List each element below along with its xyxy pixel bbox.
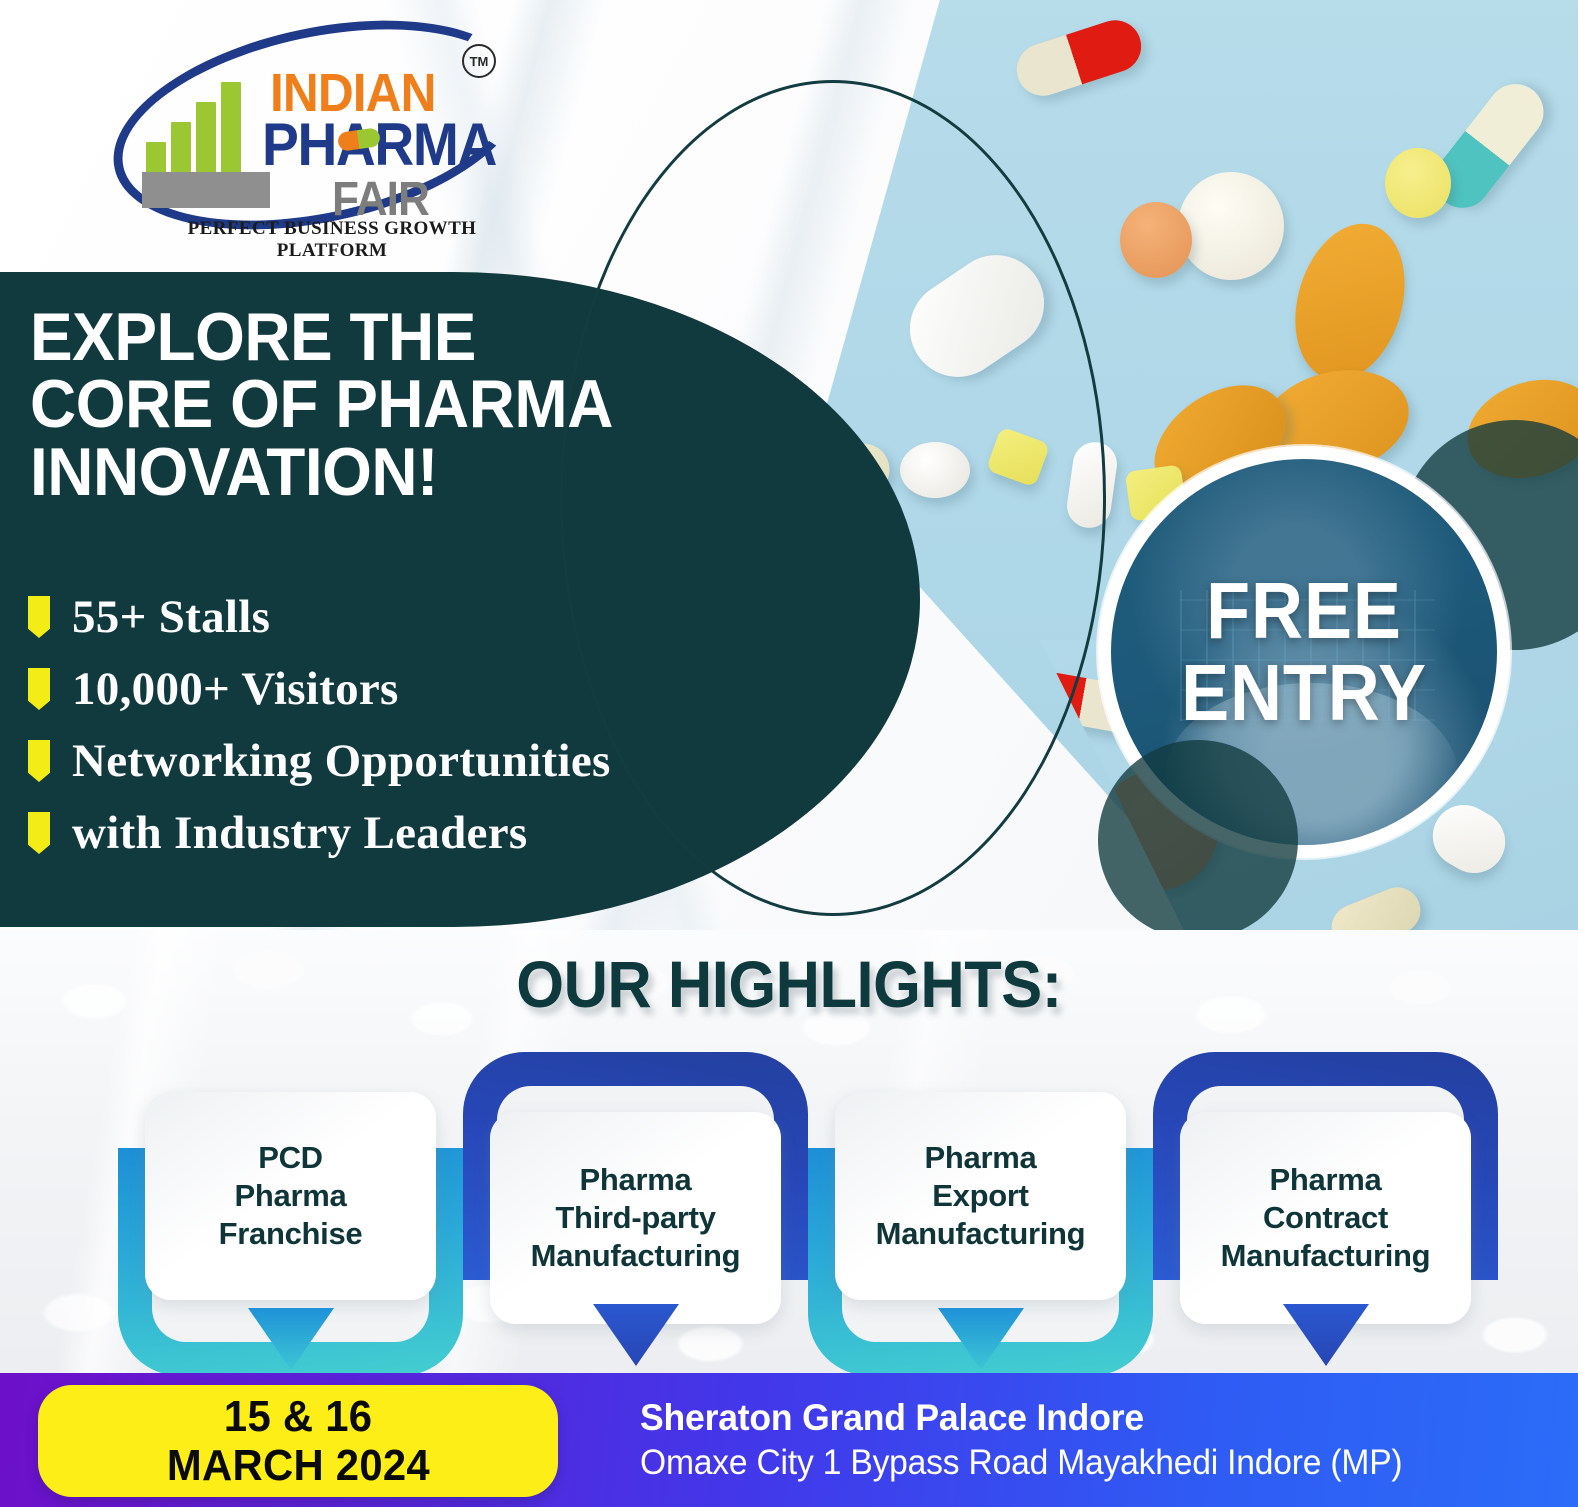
- logo-word-pharma: PHARMA: [262, 110, 496, 179]
- card-arrow-down-icon: [593, 1304, 679, 1366]
- card-arrow-down-icon: [1283, 1304, 1369, 1366]
- highlights-cards: PCDPharmaFranchise PharmaThird-partyManu…: [0, 1066, 1578, 1376]
- card-label: PCDPharmaFranchise: [215, 1139, 367, 1252]
- logo-bar-chart-icon: [146, 80, 264, 184]
- bullet-chevron-icon: [28, 740, 50, 782]
- card-face: PharmaExportManufacturing: [835, 1092, 1126, 1300]
- card-face: PharmaContractManufacturing: [1180, 1112, 1471, 1324]
- card-face: PharmaThird-partyManufacturing: [490, 1112, 781, 1324]
- logo-grey-block: [142, 172, 270, 208]
- card-label: PharmaThird-partyManufacturing: [527, 1161, 745, 1274]
- bullet-chevron-icon: [28, 668, 50, 710]
- headline-line-2: CORE OF PHARMA: [30, 371, 810, 438]
- headline-line-3: INNOVATION!: [30, 439, 810, 506]
- pill-tablet-peach-small: [1120, 202, 1192, 278]
- list-item: 10,000+ Visitors: [28, 660, 828, 718]
- logo-tagline: PERFECT BUSINESS GROWTH PLATFORM: [132, 218, 532, 262]
- pill-tablet-yellow: [1385, 148, 1451, 218]
- venue-info: Sheraton Grand Palace Indore Omaxe City …: [640, 1395, 1570, 1485]
- venue-address: Omaxe City 1 Bypass Road Mayakhedi Indor…: [640, 1441, 1533, 1485]
- event-date-line-2: MARCH 2024: [166, 1441, 429, 1490]
- event-date-badge: 15 & 16 MARCH 2024: [38, 1385, 558, 1497]
- highlights-title: OUR HIGHLIGHTS:: [55, 946, 1523, 1022]
- trademark-icon: TM: [462, 44, 496, 78]
- event-date-line-1: 15 & 16: [224, 1392, 372, 1441]
- badge-line-2: ENTRY: [1181, 652, 1427, 734]
- card-face: PCDPharmaFranchise: [145, 1092, 436, 1300]
- bullet-chevron-icon: [28, 596, 50, 638]
- bullet-chevron-icon: [28, 812, 50, 854]
- bullet-label: 10,000+ Visitors: [72, 666, 399, 713]
- page-title: EXPLORE THE CORE OF PHARMA INNOVATION!: [30, 304, 810, 506]
- bullet-label: 55+ Stalls: [72, 594, 270, 641]
- hero-bullet-list: 55+ Stalls 10,000+ Visitors Networking O…: [28, 588, 828, 876]
- pill-tablet-white: [1178, 172, 1284, 280]
- pill-capsule-red: [1010, 13, 1148, 102]
- pill-oval-orange-1: [1278, 211, 1422, 393]
- brand-logo: INDIAN PHARMA FAIR PERFECT BUSINESS GROW…: [110, 22, 530, 232]
- bullet-label: Networking Opportunities: [72, 738, 611, 785]
- bullet-label: with Industry Leaders: [72, 810, 527, 857]
- list-item: 55+ Stalls: [28, 588, 828, 646]
- list-item: Networking Opportunities: [28, 732, 828, 790]
- list-item: with Industry Leaders: [28, 804, 828, 862]
- venue-name: Sheraton Grand Palace Indore: [640, 1395, 1533, 1441]
- card-label: PharmaExportManufacturing: [872, 1139, 1090, 1252]
- poster: EXPLORE THE CORE OF PHARMA INNOVATION! 5…: [0, 0, 1578, 1507]
- decorative-circle-bottom: [1098, 740, 1298, 940]
- card-label: PharmaContractManufacturing: [1217, 1161, 1435, 1274]
- badge-line-1: FREE: [1206, 570, 1402, 652]
- headline-line-1: EXPLORE THE: [30, 304, 810, 371]
